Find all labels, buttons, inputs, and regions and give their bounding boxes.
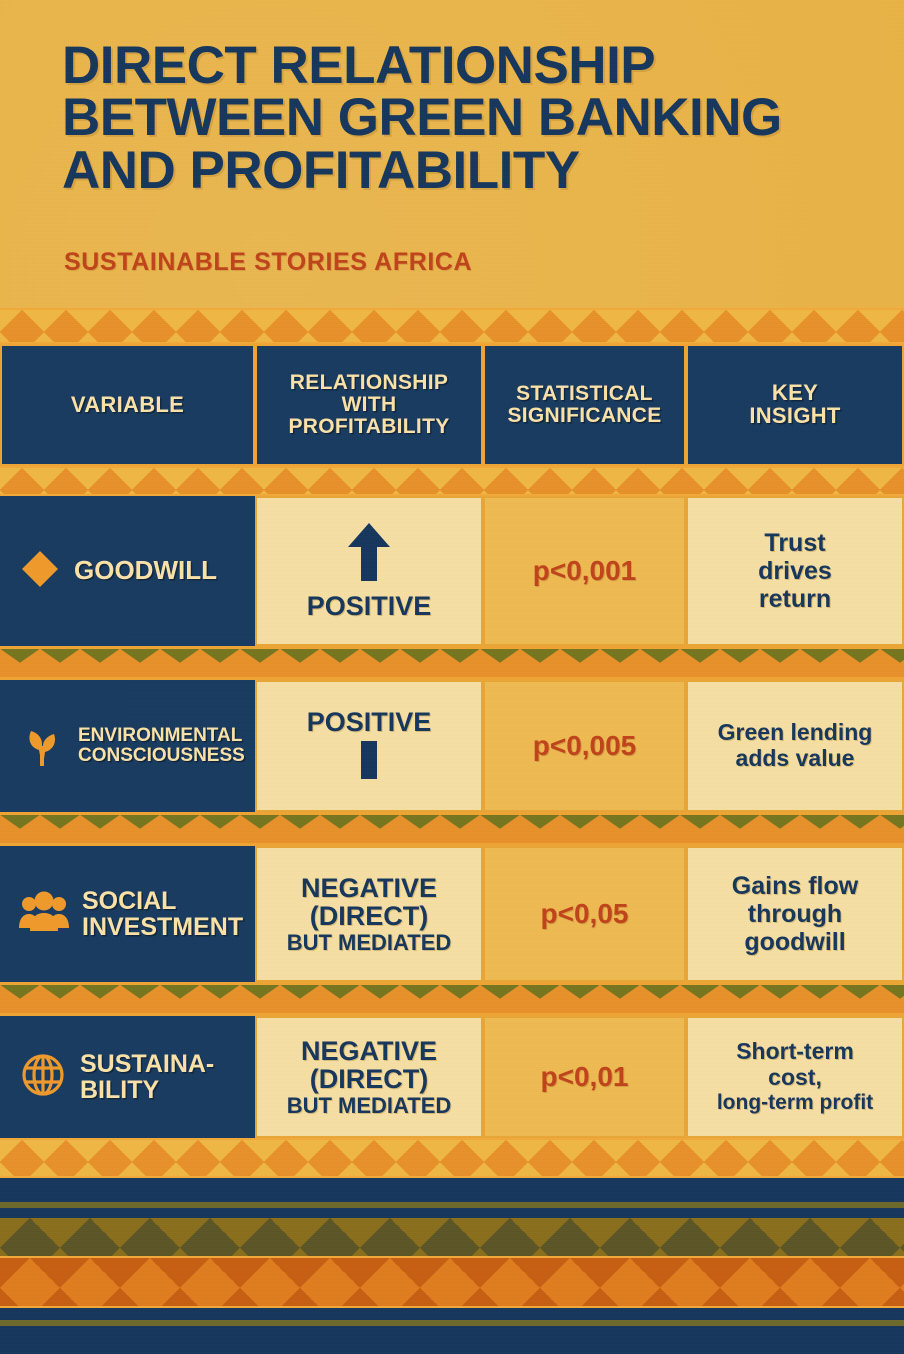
title-line-1: DIRECT RELATIONSHIP	[62, 40, 852, 92]
row-2-variable-line-2: CONSCIOUSNESS	[78, 746, 245, 766]
triangle-band-2	[0, 812, 904, 846]
row-1-variable-label: GOODWILL	[74, 557, 217, 584]
table-row: SOCIAL INVESTMENT NEGATIVE (DIRECT) BUT …	[0, 846, 904, 982]
column-header-key-insight-line-1: KEY	[749, 382, 840, 405]
column-header-significance-line-2: SIGNIFICANCE	[507, 405, 661, 427]
row-4-significance-cell: p<0,01	[483, 1016, 686, 1138]
row-4-variable-line-1: SUSTAINA-	[80, 1051, 214, 1077]
title-line-3: AND PROFITABILITY	[62, 145, 852, 197]
row-3-relationship-label: NEGATIVE	[301, 874, 437, 903]
column-header-key-insight-line-2: INSIGHT	[749, 405, 840, 428]
row-3-relationship-label-2: (DIRECT)	[310, 902, 428, 931]
row-3-insight-line-2: through	[732, 900, 858, 928]
row-2-insight-cell: Green lending adds value	[686, 680, 904, 812]
row-4-relationship-label-2: (DIRECT)	[310, 1065, 428, 1094]
arrow-up-icon	[346, 521, 392, 588]
header: DIRECT RELATIONSHIP BETWEEN GREEN BANKIN…	[0, 0, 904, 308]
row-2-relationship-label: POSITIVE	[307, 708, 432, 737]
page-title: DIRECT RELATIONSHIP BETWEEN GREEN BANKIN…	[62, 40, 852, 197]
row-2-relationship-cell: POSITIVE	[255, 680, 483, 812]
row-2-variable-cell: ENVIRONMENTAL CONSCIOUSNESS	[0, 680, 255, 812]
row-4-insight-cell: Short-term cost, long-term profit	[686, 1016, 904, 1138]
column-header-relationship: RELATIONSHIP WITH PROFITABILITY	[255, 344, 483, 466]
table-header-row: VARIABLE RELATIONSHIP WITH PROFITABILITY…	[0, 344, 904, 466]
row-3-variable-cell: SOCIAL INVESTMENT	[0, 846, 255, 982]
row-3-insight-line-3: goodwill	[732, 928, 858, 956]
row-2-variable-label: ENVIRONMENTAL CONSCIOUSNESS	[78, 726, 245, 766]
triangle-band-3	[0, 982, 904, 1016]
row-3-variable-line-2: INVESTMENT	[82, 914, 243, 940]
row-3-variable-label: SOCIAL INVESTMENT	[82, 888, 243, 941]
sprout-icon	[18, 720, 66, 773]
navy-band-2	[0, 1208, 904, 1218]
row-1-significance-cell: p<0,001	[483, 496, 686, 646]
title-line-2: BETWEEN GREEN BANKING	[62, 92, 852, 144]
zigzag-band-header-bottom	[0, 466, 904, 496]
row-3-insight-line-1: Gains flow	[732, 872, 858, 900]
column-header-key-insight: KEY INSIGHT	[686, 344, 904, 466]
triangle-band-1	[0, 646, 904, 680]
column-header-relationship-line-3: PROFITABILITY	[289, 416, 450, 438]
subtitle: SUSTAINABLE STORIES AFRICA	[64, 248, 472, 277]
row-4-insight-line-1: Short-term	[717, 1039, 873, 1065]
row-2-significance-cell: p<0,005	[483, 680, 686, 812]
table-row: GOODWILL POSITIVE p<0,001 Trust drives r…	[0, 496, 904, 646]
row-1-insight-line-1: Trust	[758, 529, 832, 557]
orange-zigzag-band-footer	[0, 1256, 904, 1308]
globe-icon	[18, 1050, 68, 1105]
row-4-relationship-label: NEGATIVE	[301, 1037, 437, 1066]
column-header-variable: VARIABLE	[0, 344, 255, 466]
row-4-variable-line-2: BILITY	[80, 1077, 214, 1103]
row-1-significance-value: p<0,001	[533, 555, 637, 587]
row-3-relationship-cell: NEGATIVE (DIRECT) BUT MEDIATED	[255, 846, 483, 982]
table-row: ENVIRONMENTAL CONSCIOUSNESS POSITIVE p<0…	[0, 680, 904, 812]
row-3-variable-line-1: SOCIAL	[82, 888, 243, 914]
row-4-insight-line-3: long-term profit	[717, 1091, 873, 1115]
column-header-relationship-line-2: WITH	[289, 394, 450, 416]
column-header-significance-line-1: STATISTICAL	[507, 383, 661, 405]
column-header-variable-label: VARIABLE	[71, 394, 184, 417]
row-3-significance-value: p<0,05	[541, 898, 629, 930]
diamond-icon	[18, 547, 62, 596]
row-4-variable-label: SUSTAINA- BILITY	[80, 1051, 214, 1104]
zigzag-band-footer-1	[0, 1138, 904, 1178]
row-4-relationship-cell: NEGATIVE (DIRECT) BUT MEDIATED	[255, 1016, 483, 1138]
row-4-variable-cell: SUSTAINA- BILITY	[0, 1016, 255, 1138]
row-3-insight-cell: Gains flow through goodwill	[686, 846, 904, 982]
row-4-relationship-sub: BUT MEDIATED	[287, 1094, 452, 1117]
row-1-relationship-label: POSITIVE	[307, 592, 432, 621]
row-3-significance-cell: p<0,05	[483, 846, 686, 982]
column-header-significance: STATISTICAL SIGNIFICANCE	[483, 344, 686, 466]
row-2-variable-line-1: ENVIRONMENTAL	[78, 726, 245, 746]
row-1-variable-cell: GOODWILL	[0, 496, 255, 646]
table-row: SUSTAINA- BILITY NEGATIVE (DIRECT) BUT M…	[0, 1016, 904, 1138]
row-4-significance-value: p<0,01	[541, 1061, 629, 1093]
row-2-insight-line-2: adds value	[718, 746, 873, 772]
column-header-relationship-line-1: RELATIONSHIP	[289, 372, 450, 394]
row-2-insight-line-1: Green lending	[718, 720, 873, 746]
row-1-insight-cell: Trust drives return	[686, 496, 904, 646]
row-4-insight-line-2: cost,	[717, 1065, 873, 1091]
row-1-insight-line-3: return	[758, 585, 832, 613]
navy-band-5	[0, 1326, 904, 1354]
infographic-page: DIRECT RELATIONSHIP BETWEEN GREEN BANKIN…	[0, 0, 904, 1354]
row-1-relationship-cell: POSITIVE	[255, 496, 483, 646]
row-3-relationship-sub: BUT MEDIATED	[287, 931, 452, 954]
row-2-significance-value: p<0,005	[533, 730, 637, 762]
people-group-icon	[18, 890, 70, 939]
small-bar-icon	[361, 741, 377, 784]
zigzag-band-top	[0, 308, 904, 344]
row-1-insight-line-2: drives	[758, 557, 832, 585]
